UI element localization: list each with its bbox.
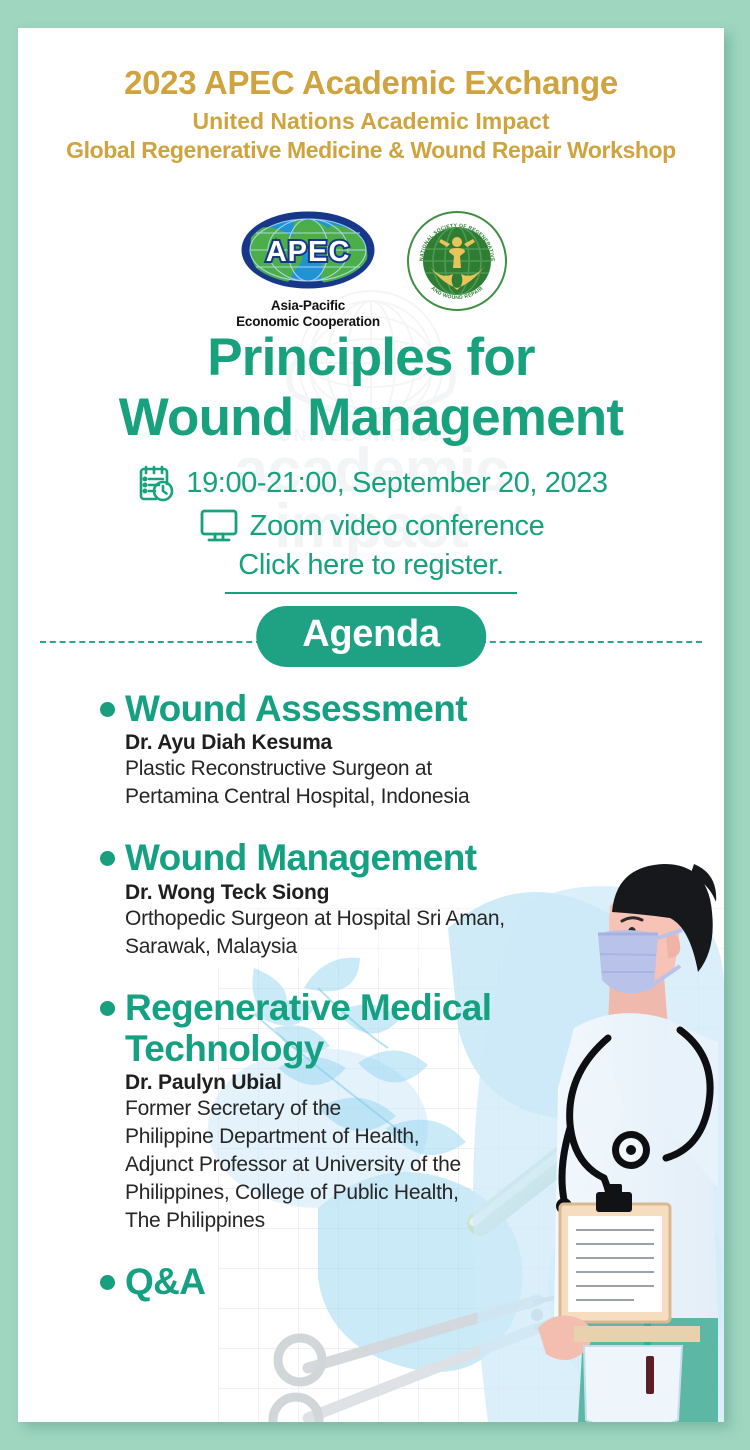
agenda-item-role: Plastic Reconstructive Surgeon at Pertam… (100, 755, 704, 811)
agenda-item-wound-assessment: Wound Assessment Dr. Ayu Diah Kesuma Pla… (18, 688, 724, 811)
event-title-line-2: Wound Management (18, 388, 724, 448)
logo-row: APEC Asia-Pacific Economic Cooperation (18, 211, 724, 330)
dashed-line-left (40, 641, 262, 643)
header-subtitle-2: Global Regenerative Medicine & Wound Rep… (18, 137, 724, 164)
agenda-item-title: Q&A (100, 1261, 704, 1302)
agenda-heading: Agenda (256, 606, 486, 667)
agenda-item-speaker: Dr. Wong Teck Siong (100, 881, 704, 905)
dashed-line-right (480, 641, 702, 643)
register-row[interactable]: Click here to register. (18, 549, 724, 594)
apec-logo: APEC Asia-Pacific Economic Cooperation (236, 211, 381, 330)
calendar-clock-icon (134, 462, 176, 504)
agenda-item-title: Wound Management (100, 837, 704, 878)
agenda-item-role: Former Secretary of the Philippine Depar… (100, 1095, 592, 1235)
monitor-icon (198, 506, 240, 546)
header-subtitle-1: United Nations Academic Impact (18, 108, 724, 135)
register-underline (225, 592, 517, 594)
isrmwr-seal-logo: THE INTERNATIONAL SOCIETY OF REGENERATIV… (407, 211, 507, 316)
agenda-item-wound-management: Wound Management Dr. Wong Teck Siong Ort… (18, 837, 724, 960)
spacer (18, 1235, 724, 1261)
apec-caption-line-1: Asia-Pacific (236, 298, 381, 314)
register-link[interactable]: Click here to register. (238, 549, 504, 581)
agenda-item-speaker: Dr. Paulyn Ubial (100, 1071, 592, 1095)
agenda-list: Wound Assessment Dr. Ayu Diah Kesuma Pla… (18, 688, 724, 1304)
apec-globe-icon: APEC (236, 211, 381, 289)
event-title: Principles for Wound Management (18, 328, 724, 448)
bullet-icon (100, 1275, 115, 1290)
isrmwr-seal-icon: THE INTERNATIONAL SOCIETY OF REGENERATIV… (407, 211, 507, 311)
poster-panel: UNITED NATIONS academic impact 2023 APEC… (18, 28, 724, 1422)
agenda-item-title: Regenerative Medical Technology (100, 987, 592, 1070)
agenda-item-title: Wound Assessment (100, 688, 704, 729)
apec-caption: Asia-Pacific Economic Cooperation (236, 298, 381, 330)
agenda-divider: Agenda (18, 606, 724, 678)
event-info: 19:00-21:00, September 20, 2023 Zoom vid… (18, 462, 724, 594)
poster-header: 2023 APEC Academic Exchange United Natio… (18, 28, 724, 164)
poster-root: UNITED NATIONS academic impact 2023 APEC… (0, 0, 750, 1450)
bullet-icon (100, 1001, 115, 1016)
agenda-item-regenerative-medical-technology: Regenerative Medical Technology Dr. Paul… (18, 987, 724, 1235)
event-datetime: 19:00-21:00, September 20, 2023 (186, 467, 607, 500)
header-title: 2023 APEC Academic Exchange (18, 64, 724, 102)
agenda-item-qa: Q&A (18, 1261, 724, 1302)
agenda-item-role: Orthopedic Surgeon at Hospital Sri Aman,… (100, 905, 704, 961)
bullet-icon (100, 702, 115, 717)
svg-text:APEC: APEC (265, 236, 350, 268)
datetime-row: 19:00-21:00, September 20, 2023 (18, 462, 724, 504)
spacer (18, 961, 724, 987)
event-platform: Zoom video conference (250, 510, 545, 543)
spacer (18, 811, 724, 837)
platform-row: Zoom video conference (18, 506, 724, 546)
event-title-line-1: Principles for (18, 328, 724, 388)
agenda-item-speaker: Dr. Ayu Diah Kesuma (100, 731, 704, 755)
